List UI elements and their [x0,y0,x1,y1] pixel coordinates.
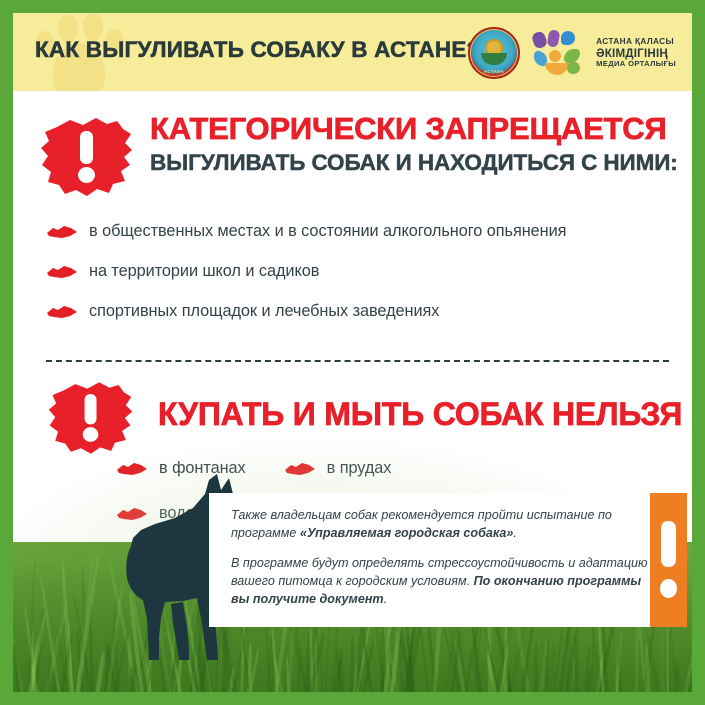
arrow-bullet-icon [46,305,78,319]
dashed-divider [46,360,669,362]
list-item-label: в общественных местах и в состоянии алко… [89,222,566,241]
footer-text-inner: Также владельцам собак рекомендуется про… [231,507,650,608]
emblem-caption: АСТАНА [470,69,518,74]
grass-blade [676,663,682,692]
emblem-wings [481,53,507,65]
exclamation-stamp-icon-1 [39,115,135,199]
footer-p1-text-c: . [513,526,517,540]
exclamation-dot [660,579,677,598]
brand-text: АСТАНА ҚАЛАСЫ ӘКІМДІГІНІҢ МЕДИА ОРТАЛЫҒЫ [596,37,676,69]
brand-line-2: ӘКІМДІГІНІҢ [596,47,676,61]
media-center-logo-icon [532,30,584,76]
list-item: на территории школ и садиков [46,262,566,281]
content-card: КАТЕГОРИЧЕСКИ ЗАПРЕЩАЕТСЯ ВЫГУЛИВАТЬ СОБ… [13,91,692,542]
section1-heading-group: КАТЕГОРИЧЕСКИ ЗАПРЕЩАЕТСЯ ВЫГУЛИВАТЬ СОБ… [150,111,678,176]
exclamation-stamp-icon-2 [47,379,135,457]
astana-emblem-icon: АСТАНА [468,27,520,79]
section1-list: в общественных местах и в состоянии алко… [46,222,566,321]
list-item: спортивных площадок и лечебных заведения… [46,302,566,321]
list-item-label: спортивных площадок и лечебных заведения… [89,302,439,321]
page-title: КАК ВЫГУЛИВАТЬ СОБАКУ В АСТАНЕ? [35,37,480,63]
section1-subheading: ВЫГУЛИВАТЬ СОБАК И НАХОДИТЬСЯ С НИМИ: [150,150,678,176]
arrow-bullet-icon [284,462,316,476]
list-item: в общественных местах и в состоянии алко… [46,222,566,241]
section1-heading: КАТЕГОРИЧЕСКИ ЗАПРЕЩАЕТСЯ [150,111,678,147]
poster-inner-frame: КАК ВЫГУЛИВАТЬ СОБАКУ В АСТАНЕ? АСТАНА [13,13,692,692]
footer-paragraph-gap [231,543,650,555]
orange-exclamation-badge [650,493,687,627]
logo-group: АСТАНА АСТАНА ҚАЛАСЫ ӘКІМДІГІНІҢ МЕДИА О… [468,27,676,79]
brand-line-1: АСТАНА ҚАЛАСЫ [596,37,676,47]
list-item-label: на территории школ и садиков [89,262,319,281]
footer-p1-text-b: «Управляемая городская собака» [300,526,513,540]
exclamation-bar [661,521,676,567]
footer-paragraph-1: Также владельцам собак рекомендуется про… [231,507,650,543]
infographic-poster: КАК ВЫГУЛИВАТЬ СОБАКУ В АСТАНЕ? АСТАНА [0,0,705,705]
footer-text-panel: Также владельцам собак рекомендуется про… [209,493,664,627]
arrow-bullet-icon [46,265,78,279]
list-item-label: в прудах [327,459,392,478]
arrow-bullet-icon [46,225,78,239]
grass-blade [534,642,538,692]
footer-p2-text-c: . [384,592,388,606]
brand-line-3: МЕДИА ОРТАЛЫҒЫ [596,60,676,69]
section2-heading: КУПАТЬ И МЫТЬ СОБАК НЕЛЬЗЯ [158,396,682,433]
poster-header: КАК ВЫГУЛИВАТЬ СОБАКУ В АСТАНЕ? АСТАНА [13,13,692,91]
footer-paragraph-2: В программе будут определять стрессоусто… [231,555,650,609]
